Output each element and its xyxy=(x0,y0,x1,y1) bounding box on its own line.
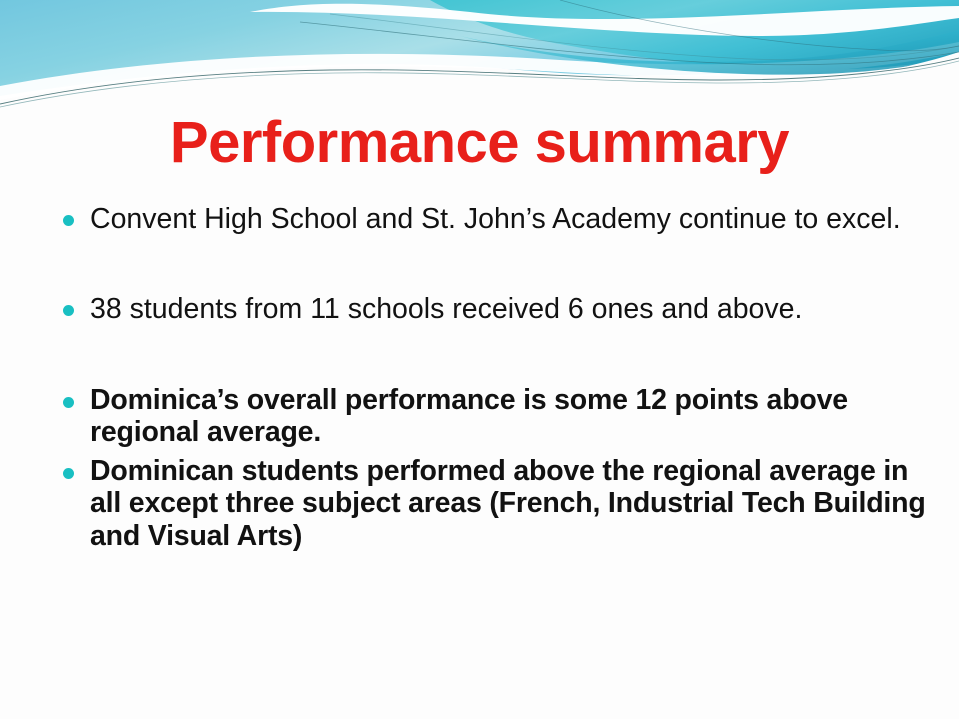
list-item: Dominica’s overall performance is some 1… xyxy=(46,384,926,449)
bullet-dot-icon xyxy=(63,397,74,408)
bullet-list: Convent High School and St. John’s Acade… xyxy=(46,203,926,552)
list-item-text: 38 students from 11 schools received 6 o… xyxy=(90,293,926,325)
list-item-text: Dominica’s overall performance is some 1… xyxy=(90,384,926,449)
list-item-text: Dominican students performed above the r… xyxy=(90,455,926,552)
bullet-dot-icon xyxy=(63,468,74,479)
list-item: 38 students from 11 schools received 6 o… xyxy=(46,293,926,325)
bullet-dot-icon xyxy=(63,215,74,226)
wave-banner-decoration xyxy=(0,0,959,118)
list-item-text: Convent High School and St. John’s Acade… xyxy=(90,203,926,235)
presentation-slide: Performance summary Convent High School … xyxy=(0,0,959,719)
list-item: Convent High School and St. John’s Acade… xyxy=(46,203,926,235)
page-title: Performance summary xyxy=(0,110,959,177)
list-item: Dominican students performed above the r… xyxy=(46,455,926,552)
bullet-dot-icon xyxy=(63,305,74,316)
